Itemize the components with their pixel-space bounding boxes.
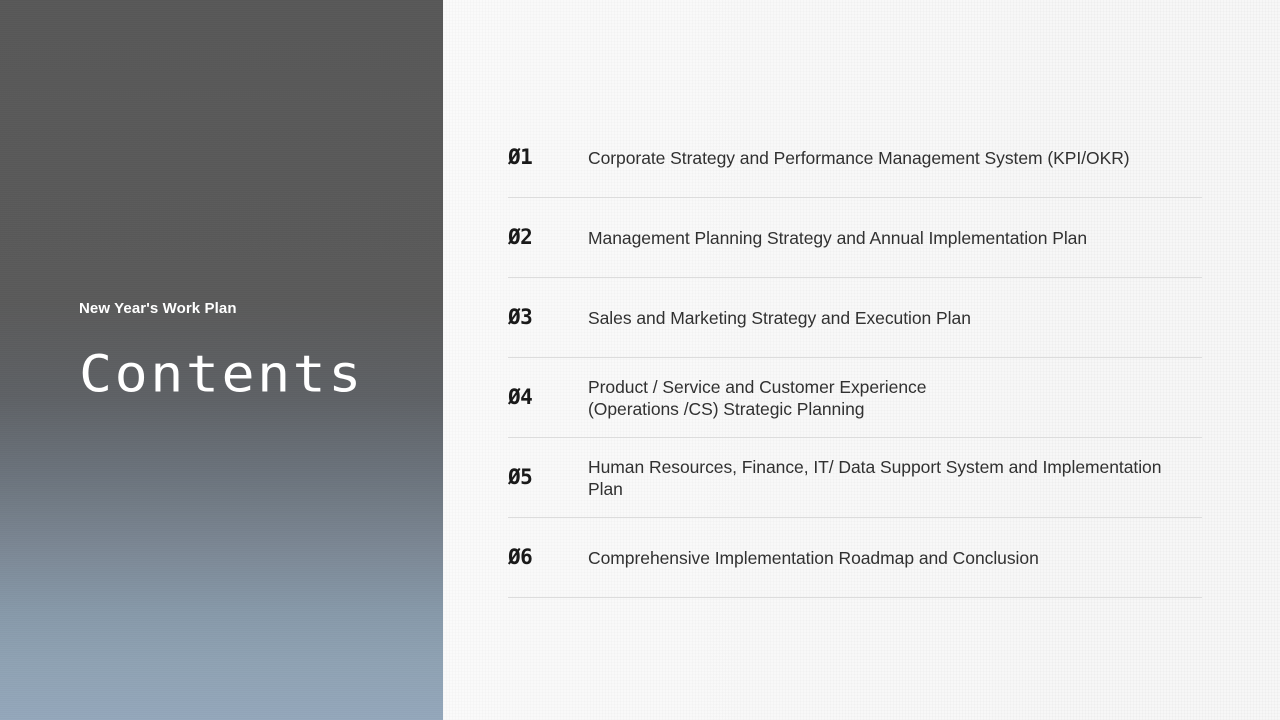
toc-item[interactable]: Ø5 Human Resources, Finance, IT/ Data Su… — [508, 438, 1202, 518]
title-panel: New Year's Work Plan Contents — [0, 0, 443, 720]
contents-panel: Ø1 Corporate Strategy and Performance Ma… — [443, 0, 1280, 720]
toc-item[interactable]: Ø2 Management Planning Strategy and Annu… — [508, 198, 1202, 278]
toc-item-label: Management Planning Strategy and Annual … — [588, 227, 1202, 249]
toc-item-number: Ø3 — [508, 307, 588, 328]
toc-item-number: Ø6 — [508, 547, 588, 568]
toc-item-label: Comprehensive Implementation Roadmap and… — [588, 547, 1202, 569]
toc-item-label: Corporate Strategy and Performance Manag… — [588, 147, 1202, 169]
toc-item[interactable]: Ø1 Corporate Strategy and Performance Ma… — [508, 118, 1202, 198]
contents-slide: New Year's Work Plan Contents Ø1 Corpora… — [0, 0, 1280, 720]
page-title: Contents — [79, 349, 419, 400]
toc-item-label: Human Resources, Finance, IT/ Data Suppo… — [588, 456, 1202, 500]
toc-item-number: Ø1 — [508, 147, 588, 168]
title-block: New Year's Work Plan Contents — [79, 300, 419, 404]
toc-item[interactable]: Ø4 Product / Service and Customer Experi… — [508, 358, 1202, 438]
toc-item-number: Ø4 — [508, 387, 588, 408]
toc-item-label: Product / Service and Customer Experienc… — [588, 376, 1202, 420]
toc-item-label: Sales and Marketing Strategy and Executi… — [588, 307, 1202, 329]
table-of-contents: Ø1 Corporate Strategy and Performance Ma… — [508, 118, 1202, 598]
toc-item[interactable]: Ø3 Sales and Marketing Strategy and Exec… — [508, 278, 1202, 358]
slide-eyebrow: New Year's Work Plan — [79, 300, 419, 318]
toc-item-number: Ø5 — [508, 467, 588, 488]
toc-item-number: Ø2 — [508, 227, 588, 248]
toc-item[interactable]: Ø6 Comprehensive Implementation Roadmap … — [508, 518, 1202, 598]
